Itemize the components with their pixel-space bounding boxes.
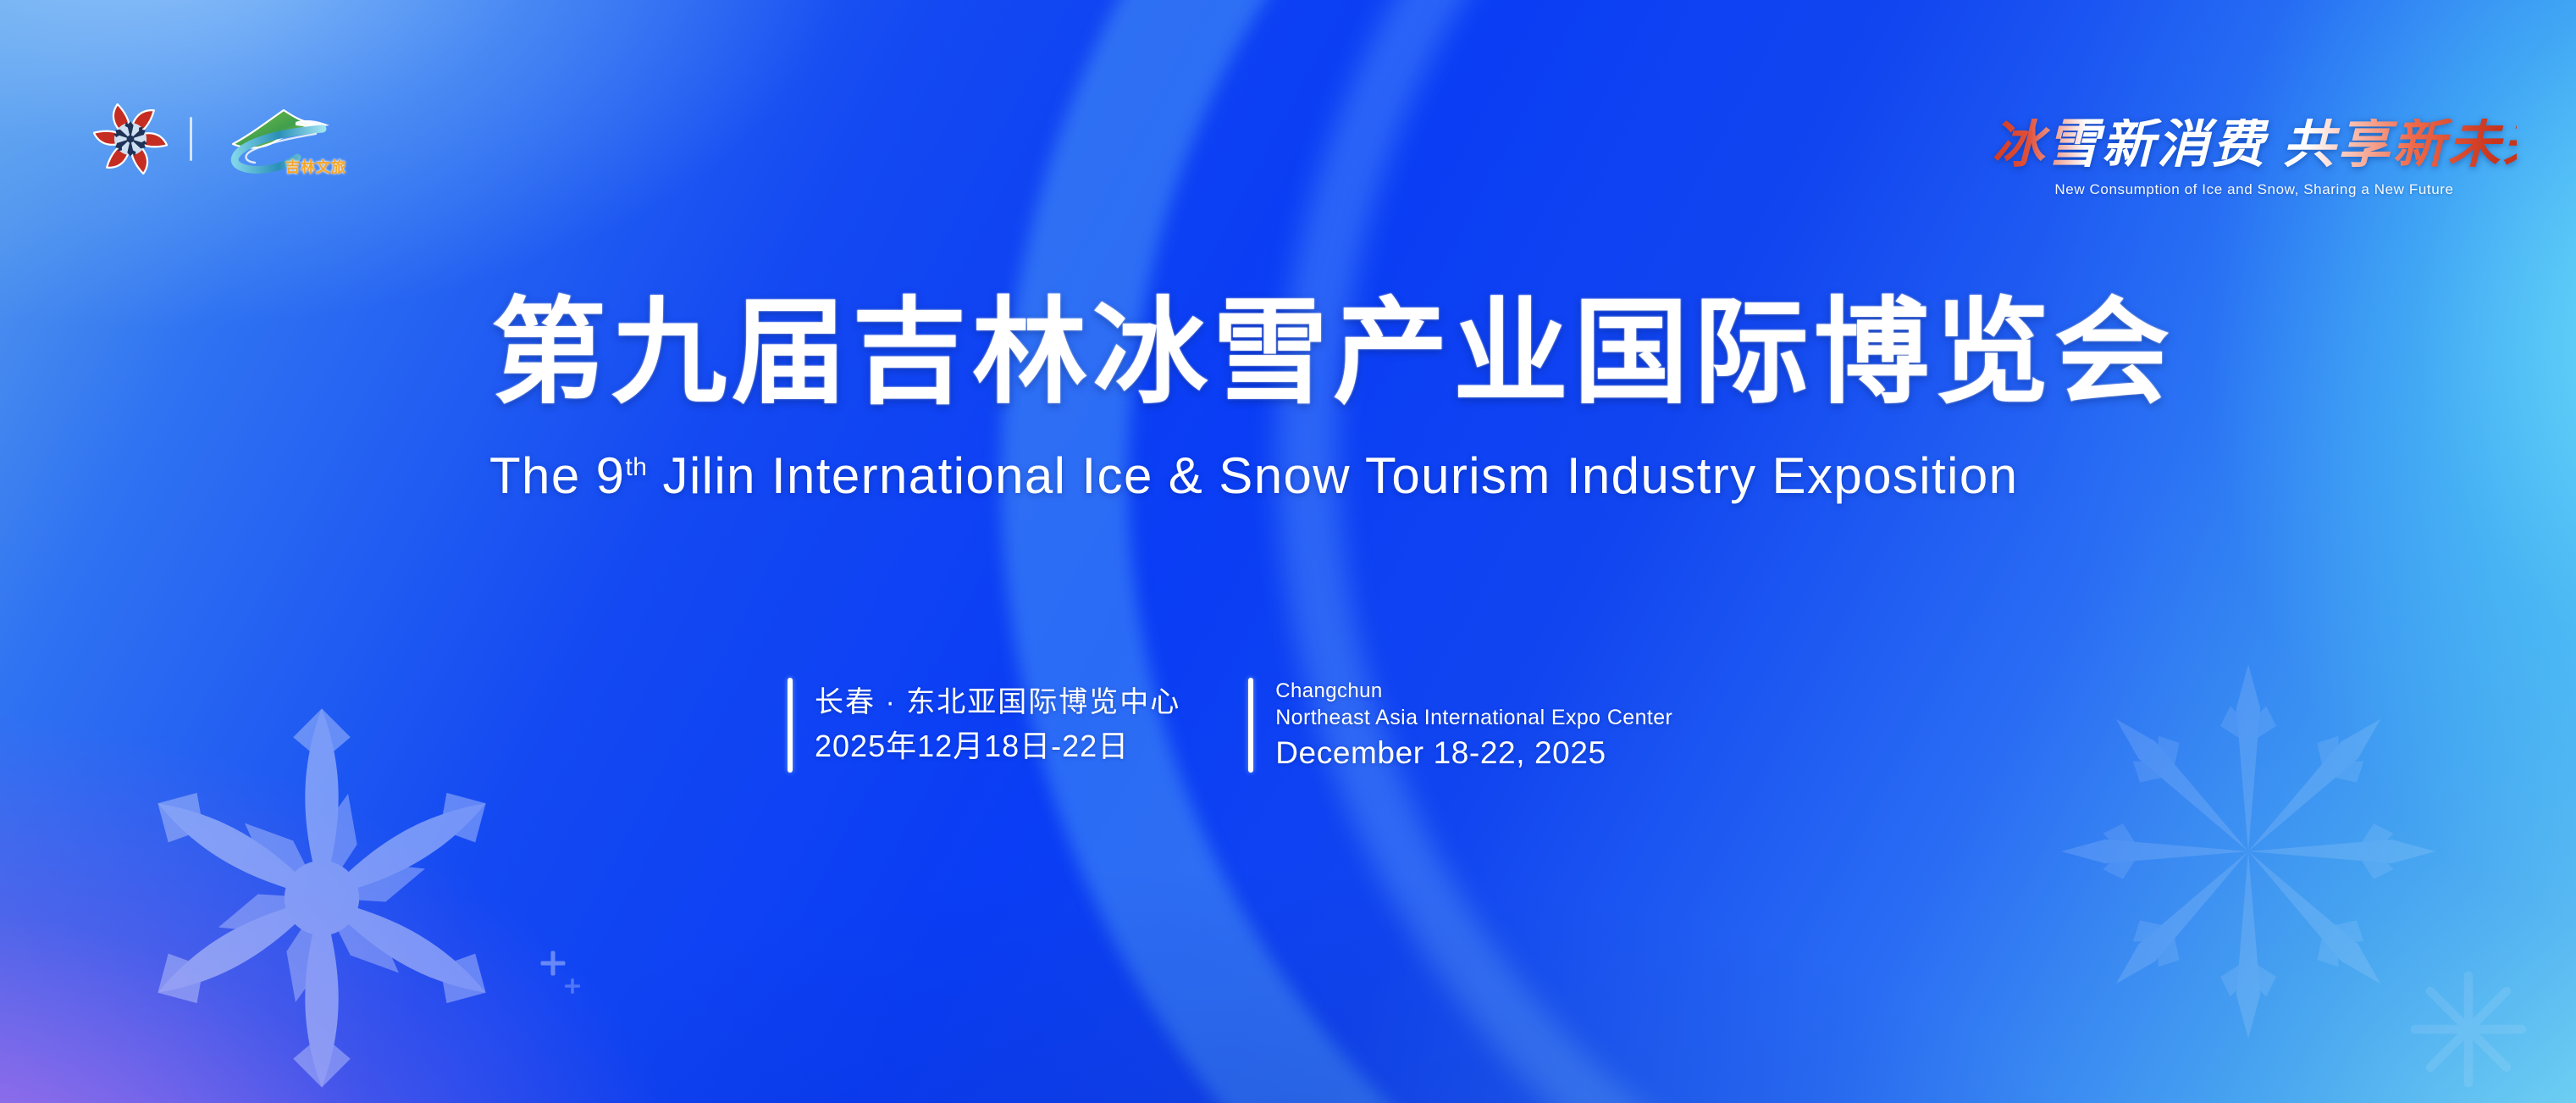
jilin-culture-tourism-logo-icon: 吉林文旅 bbox=[214, 100, 350, 178]
snowflake-six-petal-icon bbox=[102, 678, 542, 1103]
venue-date-english-text: Changchun Northeast Asia International E… bbox=[1275, 678, 1672, 773]
city-english: Changchun bbox=[1275, 678, 1672, 704]
venue-english: Northeast Asia International Expo Center bbox=[1275, 704, 1672, 732]
expo-banner: 吉林文旅 冰雪新消费 共享新未来 New Consumption of Ice … bbox=[0, 0, 2576, 1103]
slogan-block: 冰雪新消费 共享新未来 New Consumption of Ice and S… bbox=[1992, 119, 2517, 198]
divider-bar-english bbox=[1248, 678, 1253, 773]
venue-date-english-column: Changchun Northeast Asia International E… bbox=[1248, 678, 1672, 773]
logo-row: 吉林文旅 bbox=[93, 100, 350, 178]
date-chinese: 2025年12月18日-22日 bbox=[815, 724, 1180, 768]
venue-date-chinese-column: 长春 · 东北亚国际博览中心 2025年12月18日-22日 bbox=[788, 678, 1180, 773]
title-english-ordinal: th bbox=[625, 453, 647, 481]
sparkle-icon-b bbox=[562, 976, 583, 996]
title-english-rest: Jilin International Ice & Snow Tourism I… bbox=[647, 447, 2018, 504]
venue-date-row: 长春 · 东北亚国际博览中心 2025年12月18日-22日 Changchun… bbox=[788, 678, 1672, 773]
venue-chinese: 长春 · 东北亚国际博览中心 bbox=[815, 682, 1180, 723]
slogan-sub-text: New Consumption of Ice and Snow, Sharing… bbox=[1992, 181, 2517, 198]
jilin-logo-caption: 吉林文旅 bbox=[285, 155, 346, 176]
logo-divider bbox=[190, 117, 192, 161]
page-title-chinese: 第九届吉林冰雪产业国际博览会 bbox=[491, 295, 2175, 410]
date-english: December 18-22, 2025 bbox=[1275, 734, 1672, 773]
divider-bar-chinese bbox=[788, 678, 793, 773]
sparkle-icon-a bbox=[539, 949, 567, 978]
title-english-prefix: The 9 bbox=[489, 447, 625, 504]
expo-pinwheel-snowflake-logo-icon bbox=[93, 102, 168, 176]
slogan-main-text: 冰雪新消费 共享新未来 bbox=[1992, 119, 2517, 171]
venue-date-chinese-text: 长春 · 东北亚国际博览中心 2025年12月18日-22日 bbox=[815, 678, 1180, 773]
page-title-english: The 9th Jilin International Ice & Snow T… bbox=[489, 451, 2018, 502]
